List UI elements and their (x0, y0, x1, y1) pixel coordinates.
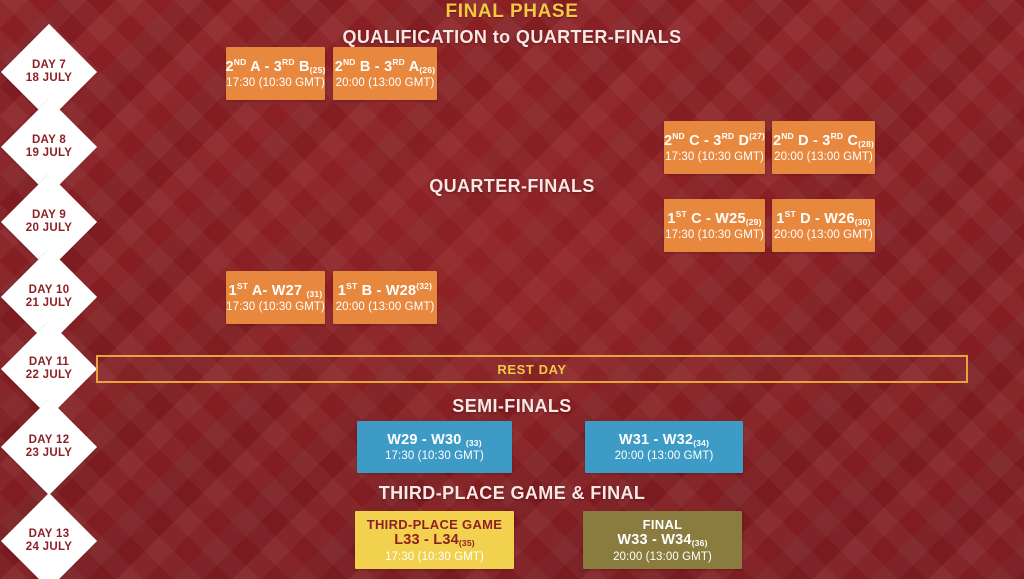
match-winner-ref: W25 (715, 211, 745, 227)
match-number: (25) (310, 65, 326, 75)
match-time-31: 17:30 (10:30 GMT) (226, 301, 325, 313)
match-group: D (738, 133, 749, 149)
match-label-third-place: THIRD-PLACE GAME (367, 517, 503, 533)
match-teams-29: 1ST C - W25(29) (667, 210, 761, 228)
match-group: D (798, 133, 809, 149)
match-matchup: W31 - W32 (619, 432, 693, 448)
section-title-semifinals: SEMI-FINALS (0, 396, 1024, 417)
match-card-32[interactable]: 1ST B - W28(32) 20:00 (13:00 GMT) (333, 271, 437, 324)
match-card-27[interactable]: 2ND C - 3RD D(27) 17:30 (10:30 GMT) (664, 121, 765, 174)
match-seed: 2 (664, 133, 672, 149)
match-time-33: 17:30 (10:30 GMT) (385, 450, 484, 462)
match-teams-35: L33 - L34(35) (394, 532, 475, 549)
match-group: D (800, 211, 811, 227)
match-teams-26: 2ND B - 3RD A(26) (335, 58, 436, 76)
match-seed-ordinal: ND (343, 57, 356, 67)
match-winner-ref: W26 (824, 211, 854, 227)
match-time-35: 17:30 (10:30 GMT) (385, 551, 484, 563)
match-time-27: 17:30 (10:30 GMT) (665, 151, 764, 163)
match-time-34: 20:00 (13:00 GMT) (615, 450, 714, 462)
match-seed: 2 (225, 59, 233, 75)
match-number: (31) (306, 289, 322, 299)
match-seed: 1 (667, 211, 675, 227)
match-card-28[interactable]: 2ND D - 3RD C(28) 20:00 (13:00 GMT) (772, 121, 875, 174)
match-group: B (299, 59, 310, 75)
match-seed: 1 (776, 211, 784, 227)
match-seed-ordinal: ND (781, 131, 794, 141)
day-date: 24 JULY (26, 541, 72, 554)
match-teams-30: 1ST D - W26(30) (776, 210, 870, 228)
day-label: DAY 13 (29, 528, 70, 541)
match-group: C (847, 133, 858, 149)
match-number: (36) (692, 538, 708, 548)
match-group: A (409, 59, 420, 75)
match-seed-ordinal: ST (785, 209, 796, 219)
match-number: (35) (459, 538, 475, 548)
day-label: DAY 10 (29, 284, 70, 297)
match-seed-ordinal: RD (282, 57, 295, 67)
match-time-26: 20:00 (13:00 GMT) (336, 77, 435, 89)
match-seed-ordinal: ST (237, 281, 248, 291)
page-title: FINAL PHASE (0, 1, 1024, 23)
match-card-29[interactable]: 1ST C - W25(29) 17:30 (10:30 GMT) (664, 199, 765, 252)
match-seed-ordinal: RD (722, 131, 735, 141)
match-card-25[interactable]: 2ND A - 3RD B(25) 17:30 (10:30 GMT) (226, 47, 325, 100)
match-teams-34: W31 - W32(34) (619, 432, 709, 449)
match-winner-ref: W28 (386, 283, 416, 299)
match-teams-28: 2ND D - 3RD C(28) (773, 132, 874, 150)
match-card-26[interactable]: 2ND B - 3RD A(26) 20:00 (13:00 GMT) (333, 47, 437, 100)
match-card-35-third-place[interactable]: THIRD-PLACE GAME L33 - L34(35) 17:30 (10… (355, 511, 514, 569)
match-seed: 3 (274, 59, 282, 75)
match-teams-36: W33 - W34(36) (617, 532, 707, 549)
section-title-qualification: QUALIFICATION to QUARTER-FINALS (0, 27, 1024, 48)
day-date: 23 JULY (26, 447, 72, 460)
section-title-quarterfinals: QUARTER-FINALS (0, 176, 1024, 197)
match-card-36-final[interactable]: FINAL W33 - W34(36) 20:00 (13:00 GMT) (583, 511, 742, 569)
match-card-31[interactable]: 1ST A- W27 (31) 17:30 (10:30 GMT) (226, 271, 325, 324)
match-seed: 1 (229, 283, 237, 299)
match-seed: 2 (335, 59, 343, 75)
match-seed-ordinal: ST (676, 209, 687, 219)
match-seed-ordinal: ND (234, 57, 247, 67)
match-number: (26) (419, 65, 435, 75)
match-group: B (362, 283, 373, 299)
match-group: C (691, 211, 702, 227)
day-date: 20 JULY (26, 222, 72, 235)
match-time-32: 20:00 (13:00 GMT) (336, 301, 435, 313)
match-seed-ordinal: ND (672, 131, 685, 141)
day-date: 21 JULY (26, 297, 72, 310)
match-time-29: 17:30 (10:30 GMT) (665, 229, 764, 241)
match-label-final: FINAL (643, 517, 683, 533)
match-seed: 1 (338, 283, 346, 299)
day-date: 19 JULY (26, 147, 72, 160)
match-matchup: W33 - W34 (617, 532, 691, 548)
day-label: DAY 12 (29, 434, 70, 447)
match-teams-31: 1ST A- W27 (31) (229, 282, 323, 300)
section-title-third-place-and-final: THIRD-PLACE GAME & FINAL (0, 483, 1024, 504)
match-seed: 3 (713, 133, 721, 149)
match-time-30: 20:00 (13:00 GMT) (774, 229, 873, 241)
day-label: DAY 9 (32, 209, 66, 222)
match-time-36: 20:00 (13:00 GMT) (613, 551, 712, 563)
match-seed: 3 (822, 133, 830, 149)
day-label: DAY 8 (32, 134, 66, 147)
match-number: (30) (855, 217, 871, 227)
match-matchup: W29 - W30 (387, 432, 461, 448)
match-group: B (360, 59, 371, 75)
match-group: A (250, 59, 260, 75)
match-number: (33) (466, 438, 482, 448)
rest-day-label: REST DAY (497, 362, 566, 377)
match-card-30[interactable]: 1ST D - W26(30) 20:00 (13:00 GMT) (772, 199, 875, 252)
rest-day-bar: REST DAY (96, 355, 968, 383)
match-seed: 2 (773, 133, 781, 149)
match-number: (29) (746, 217, 762, 227)
match-number: (27) (749, 131, 765, 141)
match-card-33[interactable]: W29 - W30 (33) 17:30 (10:30 GMT) (357, 421, 512, 473)
match-group: C (689, 133, 700, 149)
match-teams-32: 1ST B - W28(32) (338, 282, 432, 300)
match-card-34[interactable]: W31 - W32(34) 20:00 (13:00 GMT) (585, 421, 743, 473)
match-seed-ordinal: RD (831, 131, 844, 141)
day-label: DAY 7 (32, 59, 66, 72)
match-teams-27: 2ND C - 3RD D(27) (664, 132, 765, 150)
match-number: (28) (858, 139, 874, 149)
match-seed-ordinal: RD (392, 57, 405, 67)
match-number: (32) (416, 281, 432, 291)
match-number: (34) (693, 438, 709, 448)
match-teams-33: W29 - W30 (33) (387, 432, 481, 449)
match-matchup: L33 - L34 (394, 532, 459, 548)
match-group: A (252, 283, 263, 299)
day-label: DAY 11 (29, 356, 69, 369)
match-time-28: 20:00 (13:00 GMT) (774, 151, 873, 163)
day-marker-day-12: DAY 12 23 JULY (1, 399, 97, 495)
match-seed-ordinal: ST (346, 281, 357, 291)
day-date: 18 JULY (26, 72, 72, 85)
match-teams-25: 2ND A - 3RD B(25) (225, 58, 325, 76)
day-date: 22 JULY (26, 369, 72, 382)
match-time-25: 17:30 (10:30 GMT) (226, 77, 325, 89)
bracket-infographic: FINAL PHASE QUALIFICATION to QUARTER-FIN… (0, 0, 1024, 579)
match-winner-ref: W27 (272, 283, 302, 299)
